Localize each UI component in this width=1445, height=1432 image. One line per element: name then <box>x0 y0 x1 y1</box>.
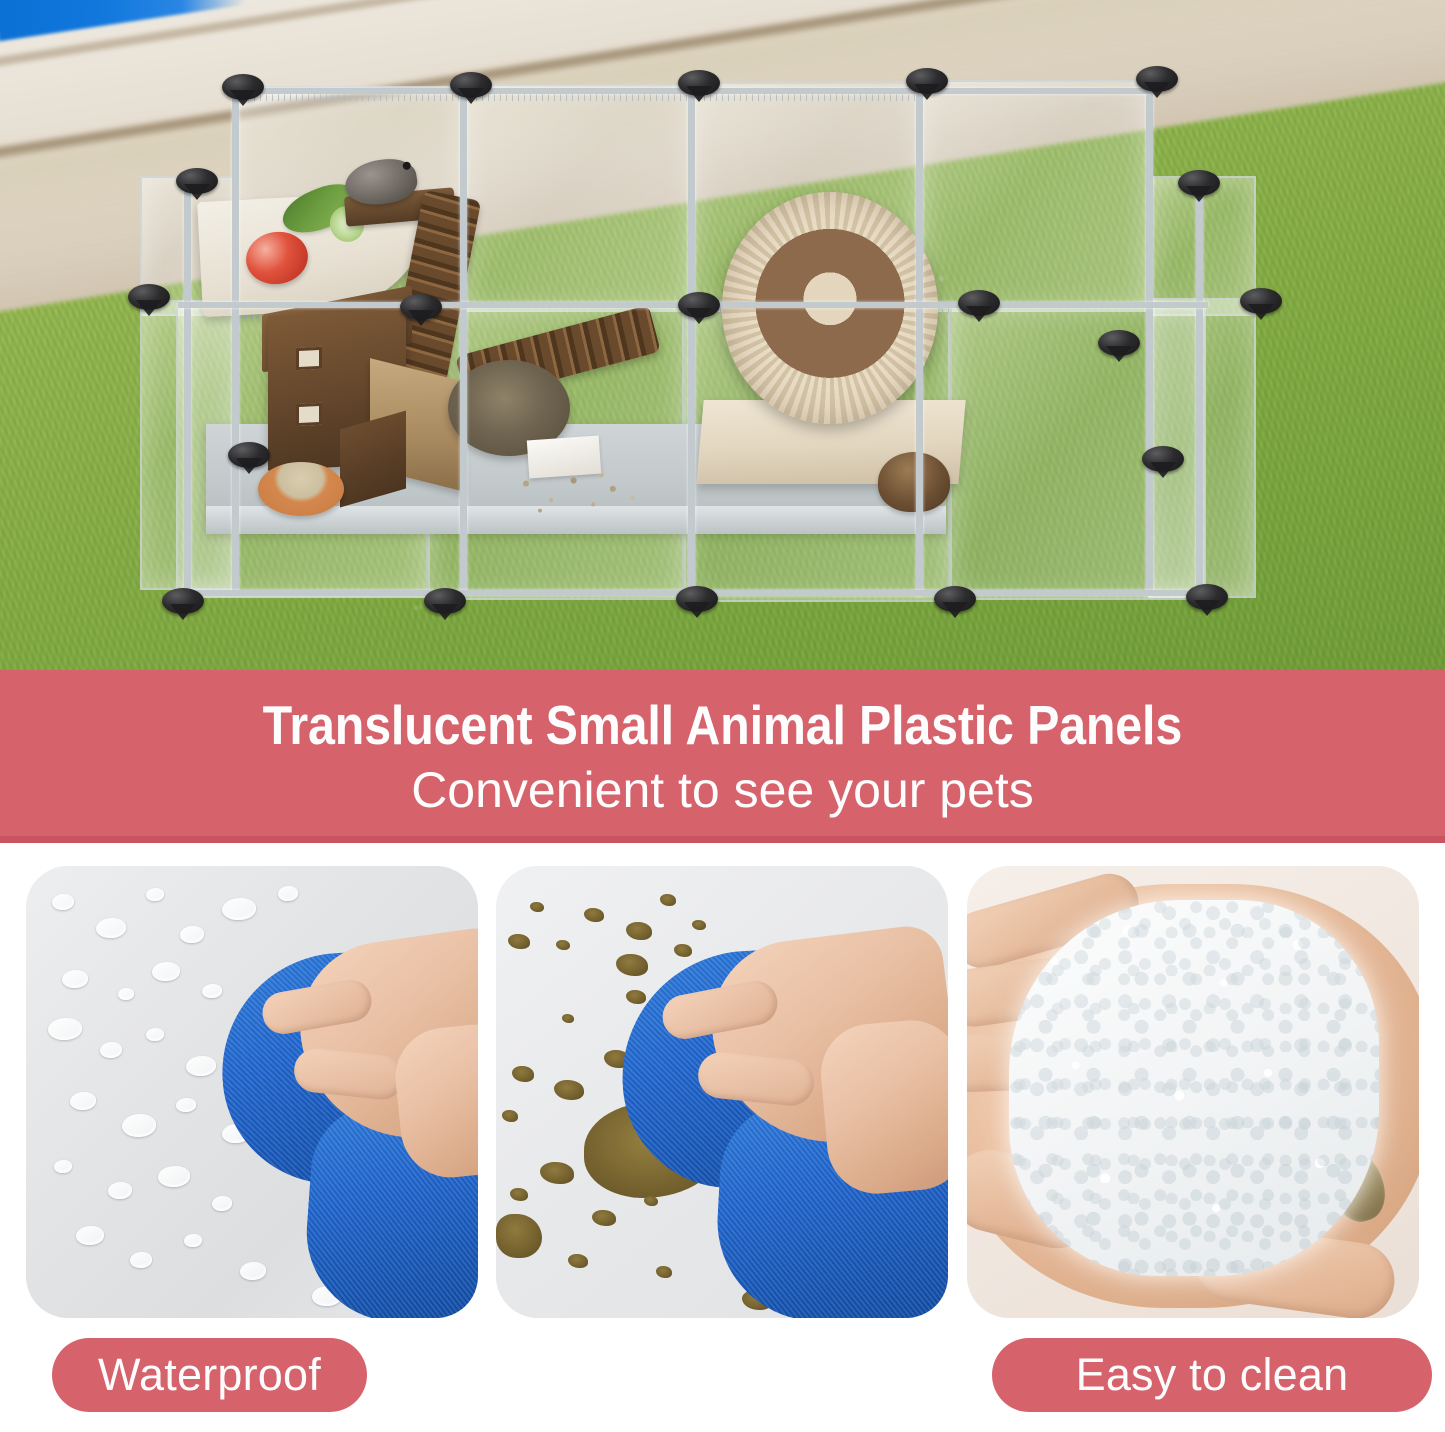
panel-connector <box>1240 288 1282 314</box>
panel-connector <box>1098 330 1140 356</box>
easy-to-clean-image <box>496 866 948 1318</box>
mud-splatter <box>508 934 530 949</box>
banner-subheadline: Convenient to see your pets <box>411 765 1034 816</box>
panel-connector <box>678 70 720 96</box>
panel-back-2 <box>464 84 692 312</box>
panel-connector <box>228 442 270 468</box>
water-droplet <box>152 962 180 981</box>
water-droplet <box>158 1166 190 1187</box>
water-droplet <box>180 926 204 943</box>
panel-connector <box>678 292 720 318</box>
water-droplet <box>48 1018 82 1040</box>
mud-splatter <box>530 902 544 912</box>
feature-label-easy-to-clean: Easy to clean <box>992 1338 1432 1412</box>
water-droplet <box>118 988 134 1000</box>
mud-splatter <box>626 990 646 1004</box>
water-droplet <box>278 886 298 901</box>
feature-label-waterproof: Waterproof <box>52 1338 367 1412</box>
promo-banner: Translucent Small Animal Plastic Panels … <box>0 670 1445 843</box>
panel-connector <box>128 284 170 310</box>
banner-underline <box>0 836 1445 843</box>
water-droplet <box>52 894 74 910</box>
water-droplet <box>122 1114 156 1137</box>
water-droplet <box>146 888 164 901</box>
water-droplet <box>108 1182 132 1199</box>
panel-connector <box>1186 584 1228 610</box>
panel-connector <box>958 290 1000 316</box>
mud-splatter <box>502 1110 518 1122</box>
support-bar-1 <box>232 90 239 592</box>
water-droplet <box>202 984 222 998</box>
support-bar-right <box>1196 178 1203 598</box>
water-droplet <box>176 1098 196 1112</box>
panel-back-4 <box>920 80 1148 312</box>
water-droplet <box>130 1252 152 1268</box>
water-droplet <box>184 1234 202 1247</box>
panel-connector <box>162 588 204 614</box>
support-bar-left <box>184 180 191 594</box>
panel-connector <box>424 588 466 614</box>
mud-splatter <box>512 1066 534 1082</box>
mud-splatter <box>568 1254 588 1268</box>
water-droplet <box>62 970 88 988</box>
mud-splatter <box>584 908 604 922</box>
mud-splatter <box>496 1214 542 1258</box>
house-window-upper <box>296 347 322 370</box>
panel-connector <box>1136 66 1178 92</box>
panel-connector <box>1142 446 1184 472</box>
water-droplet <box>186 1056 216 1076</box>
water-droplet <box>146 1028 164 1041</box>
water-droplet <box>70 1092 96 1110</box>
mud-splatter <box>674 944 692 957</box>
banner-headline: Translucent Small Animal Plastic Panels <box>263 697 1182 753</box>
bedding-litter <box>512 468 652 520</box>
feature-card-waterproof: Waterproof <box>26 866 478 1318</box>
support-bar-3 <box>688 86 695 596</box>
plastic-image <box>967 866 1419 1318</box>
mud-splatter <box>592 1210 616 1226</box>
water-droplet <box>212 1196 232 1211</box>
water-droplet <box>222 898 256 920</box>
water-droplet <box>100 1042 122 1058</box>
support-bar-5 <box>1146 82 1153 596</box>
panel-connector <box>400 294 442 320</box>
mud-splatter <box>626 922 652 940</box>
panel-connector <box>676 586 718 612</box>
water-droplet <box>240 1262 266 1280</box>
mud-splatter <box>556 940 570 950</box>
mud-splatter <box>510 1188 528 1201</box>
panel-connector <box>450 72 492 98</box>
panel-connector <box>176 168 218 194</box>
support-bar-4 <box>916 84 923 596</box>
pellet-texture <box>1009 900 1379 1276</box>
water-droplet <box>76 1226 104 1245</box>
panel-connector <box>906 68 948 94</box>
water-droplet <box>96 918 126 938</box>
seed-treat-cone <box>878 452 950 512</box>
mud-splatter <box>692 920 706 930</box>
house-window-lower <box>296 403 322 426</box>
panel-connector <box>222 74 264 100</box>
hero-product-photo <box>0 0 1445 670</box>
water-droplet <box>54 1160 72 1173</box>
hand-wrist <box>817 1016 948 1198</box>
ceramic-food-bowl <box>258 462 344 516</box>
feature-card-plastic: Plastic <box>967 866 1419 1318</box>
panel-connector <box>1178 170 1220 196</box>
mud-splatter <box>656 1266 672 1278</box>
translucent-panel-pen <box>0 0 1445 670</box>
mud-splatter <box>644 1196 658 1206</box>
feature-card-easy-to-clean: Easy to clean <box>496 866 948 1318</box>
waterproof-image <box>26 866 478 1318</box>
mud-splatter <box>660 894 676 906</box>
feature-row: Waterproof <box>0 866 1445 1432</box>
wooden-exercise-wheel <box>722 192 938 424</box>
mud-splatter <box>562 1014 574 1023</box>
panel-connector <box>934 586 976 612</box>
support-bar-2 <box>460 88 467 594</box>
